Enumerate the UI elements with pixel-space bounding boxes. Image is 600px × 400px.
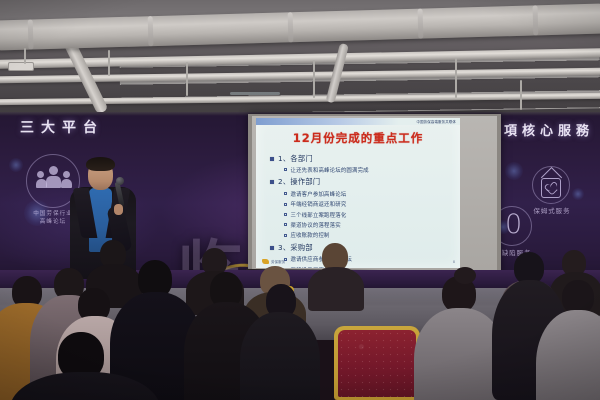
seated-audience	[0, 0, 600, 400]
banquet-chair	[334, 326, 420, 400]
hair-bun	[454, 267, 476, 284]
conference-hall-photo: 临 三大平台 中国劳保行业 高峰论坛 三項核心服務 保姆式服务 0 零缺陷服务	[0, 0, 600, 400]
